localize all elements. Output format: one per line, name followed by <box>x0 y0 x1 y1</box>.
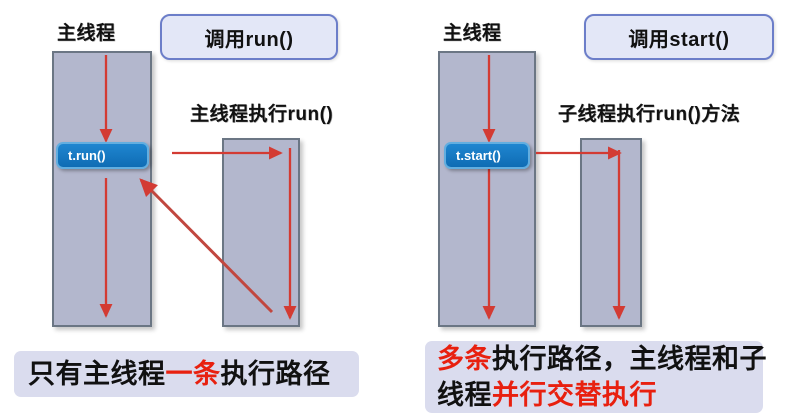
right-caption-line-1: 多条执行路径，主线程和子 <box>437 344 751 374</box>
right-caption-line1-emphasis: 多条 <box>437 344 492 374</box>
left-caption-emphasis: 一条 <box>166 359 221 389</box>
left-caption-suffix: 执行路径 <box>221 359 331 389</box>
right-caption-line-2: 线程并行交替执行 <box>437 380 751 410</box>
left-main-thread-box <box>52 51 152 327</box>
right-secondary-label: 子线程执行run()方法 <box>558 99 740 126</box>
right-caption-line1-rest: 执行路径，主线程和子 <box>492 344 767 374</box>
left-secondary-thread-box <box>222 138 300 327</box>
right-main-thread-box <box>438 51 536 327</box>
right-secondary-thread-box <box>580 138 642 327</box>
left-badge-t-run: t.run() <box>56 142 149 169</box>
left-callout-call-run: 调用run() <box>160 14 338 60</box>
right-caption-panel: 多条执行路径，主线程和子 线程并行交替执行 <box>425 341 763 413</box>
left-caption-prefix: 只有主线程 <box>28 359 166 389</box>
left-main-thread-label: 主线程 <box>57 18 116 45</box>
right-caption-line2-emphasis: 并行交替执行 <box>492 380 657 410</box>
right-callout-call-start: 调用start() <box>584 14 774 60</box>
right-badge-t-start: t.start() <box>444 142 530 169</box>
diagram-canvas: 主线程 调用run() 主线程执行run() t.run() 主线程 调用sta… <box>0 0 795 418</box>
left-caption-panel: 只有主线程一条执行路径 <box>14 351 359 397</box>
left-secondary-label: 主线程执行run() <box>190 99 333 126</box>
right-main-thread-label: 主线程 <box>443 18 502 45</box>
right-caption-line2-prefix: 线程 <box>437 380 492 410</box>
